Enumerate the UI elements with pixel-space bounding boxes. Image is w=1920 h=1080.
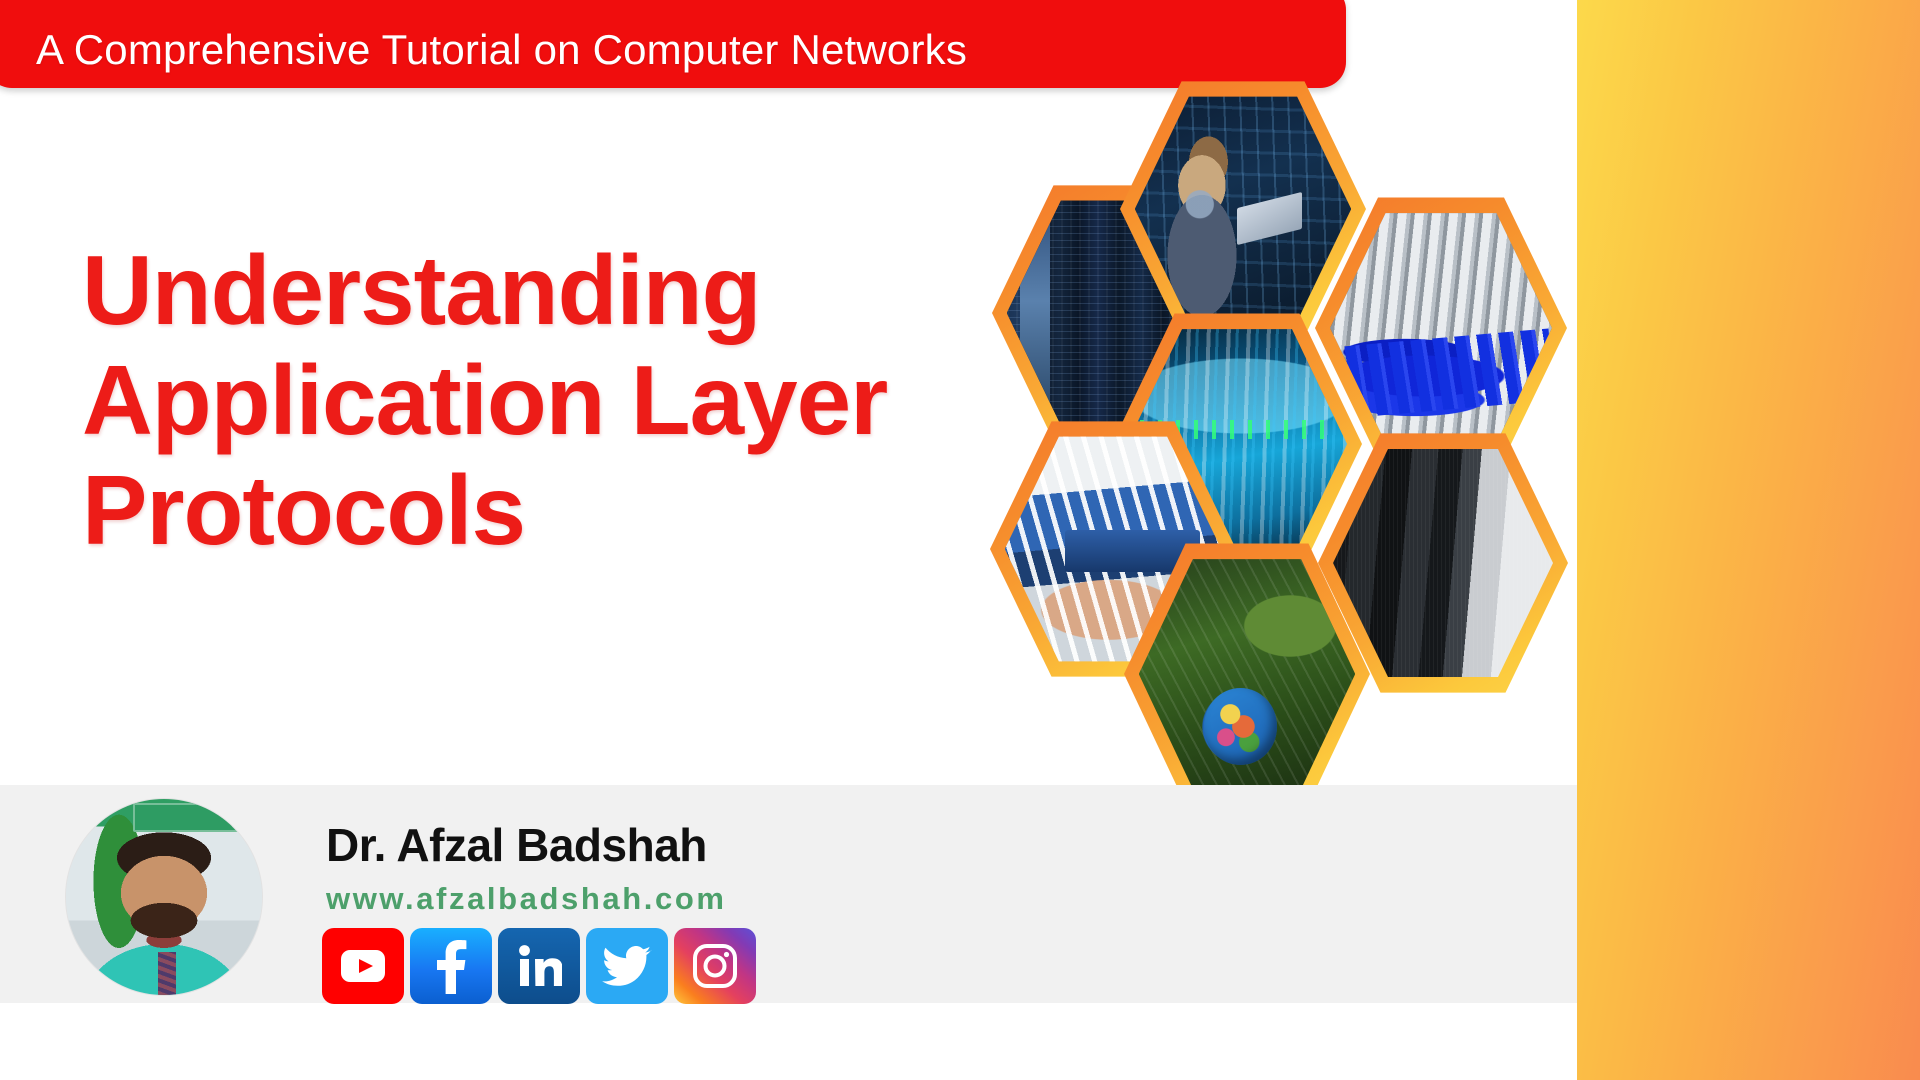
social-links bbox=[322, 928, 756, 1004]
title-line-2: Application Layer bbox=[82, 346, 1092, 456]
youtube-icon[interactable] bbox=[322, 928, 404, 1004]
slide-canvas: A Comprehensive Tutorial on Computer Net… bbox=[0, 0, 1920, 1080]
instagram-icon[interactable] bbox=[674, 928, 756, 1004]
author-name: Dr. Afzal Badshah bbox=[326, 818, 707, 872]
facebook-icon[interactable] bbox=[410, 928, 492, 1004]
top-banner: A Comprehensive Tutorial on Computer Net… bbox=[0, 0, 1346, 88]
title-line-1: Understanding bbox=[82, 236, 1092, 346]
page-title: Understanding Application Layer Protocol… bbox=[82, 236, 1092, 565]
avatar bbox=[66, 799, 262, 995]
author-website[interactable]: www.afzalbadshah.com bbox=[326, 881, 727, 917]
twitter-icon[interactable] bbox=[586, 928, 668, 1004]
banner-text: A Comprehensive Tutorial on Computer Net… bbox=[0, 26, 967, 88]
hexagon-image-cluster bbox=[1100, 80, 1920, 900]
linkedin-icon[interactable] bbox=[498, 928, 580, 1004]
title-line-3: Protocols bbox=[82, 456, 1092, 566]
footer-bar bbox=[0, 785, 1577, 1003]
